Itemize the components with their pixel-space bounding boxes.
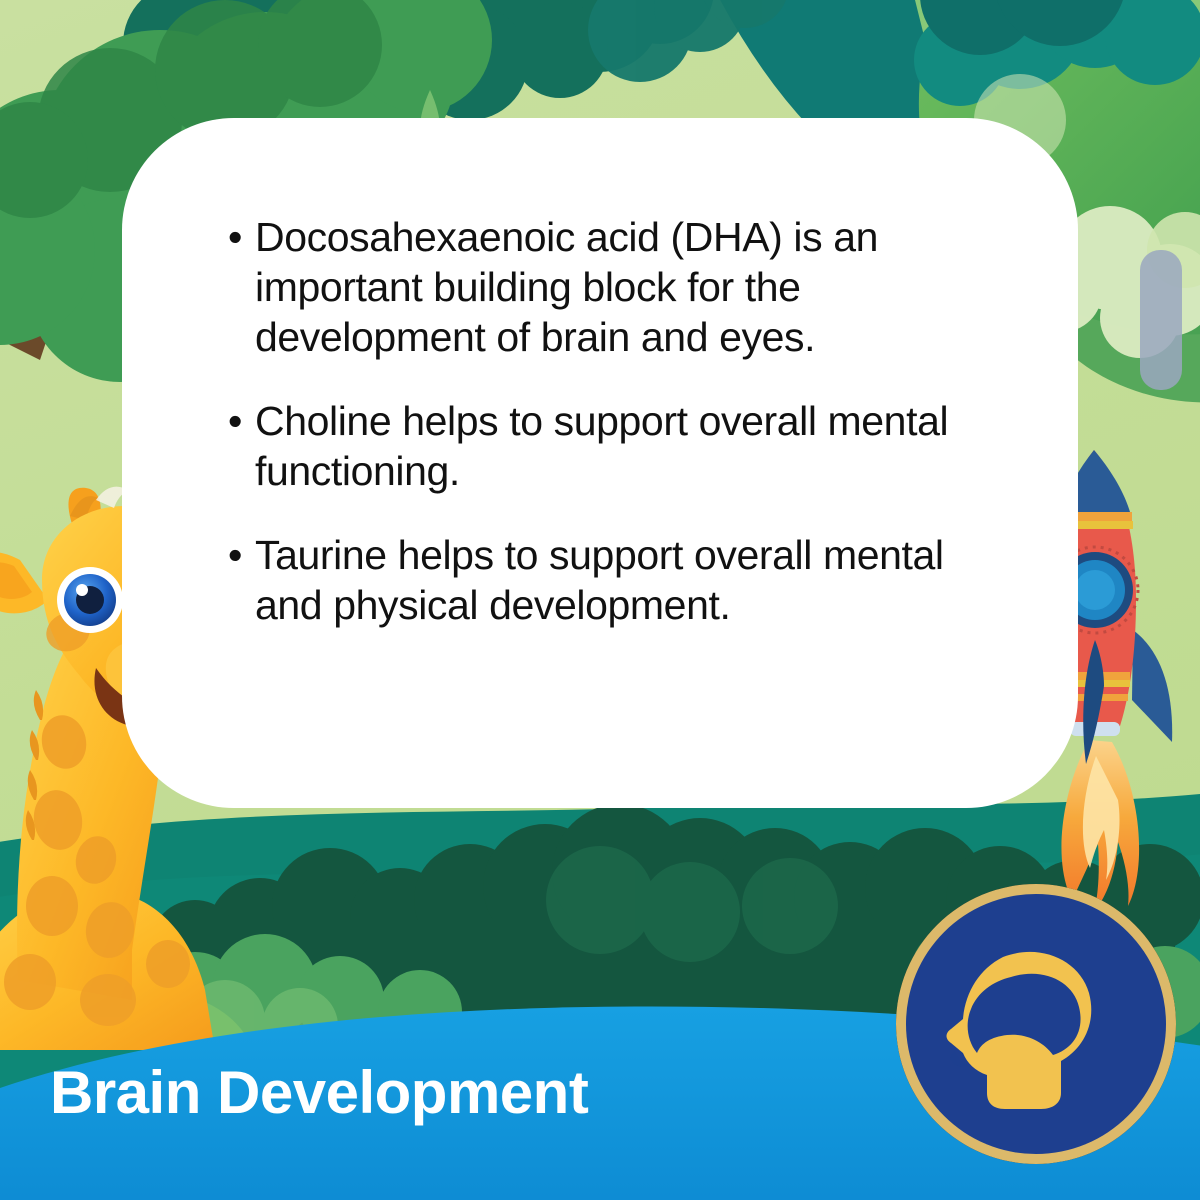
bullet-marker-icon: •	[228, 396, 255, 446]
bullet-marker-icon: •	[228, 212, 255, 262]
page-title: Brain Development	[50, 1058, 588, 1127]
list-item: • Choline helps to support overall menta…	[228, 396, 1068, 496]
bullet-text: Taurine helps to support overall mental …	[255, 530, 955, 630]
slide-canvas: • Docosahexaenoic acid (DHA) is an impor…	[0, 0, 1200, 1200]
bullet-text: Choline helps to support overall mental …	[255, 396, 1068, 496]
head-brain-badge-icon	[893, 881, 1179, 1167]
bullet-list: • Docosahexaenoic acid (DHA) is an impor…	[228, 212, 1068, 664]
list-item: • Taurine helps to support overall menta…	[228, 530, 1068, 630]
bullet-text: Docosahexaenoic acid (DHA) is an importa…	[255, 212, 975, 362]
list-item: • Docosahexaenoic acid (DHA) is an impor…	[228, 212, 1068, 362]
bullet-marker-icon: •	[228, 530, 255, 580]
